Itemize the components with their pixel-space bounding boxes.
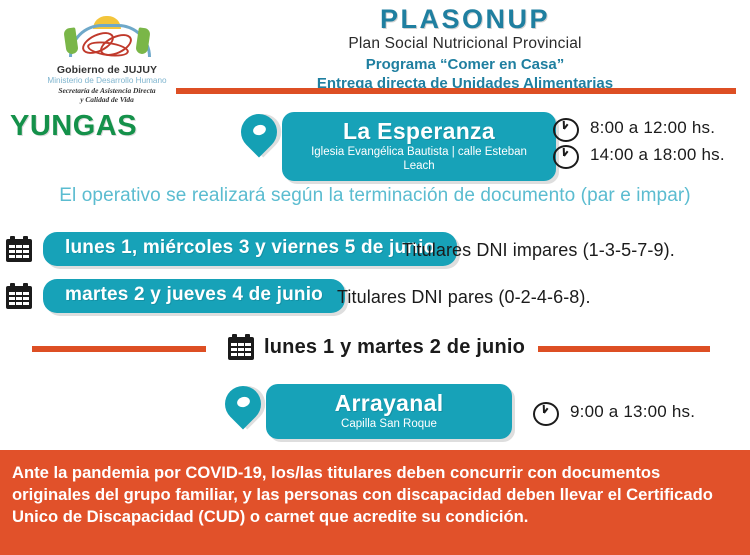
arrayanal-times: 9:00 a 13:00 hs. [533,398,695,425]
covid-notice-banner: Ante la pandemia por COVID-19, los/las t… [0,450,750,555]
arrayanal-row: Arrayanal Capilla San Roque [222,384,512,439]
schedule-row-1: lunes 1, miércoles 3 y viernes 5 de juni… [6,232,457,266]
calendar-icon [6,236,32,262]
covid-notice-text: Ante la pandemia por COVID-19, los/las t… [0,450,750,528]
header-divider [176,88,736,94]
clock-icon [533,400,557,424]
time-row: 8:00 a 12:00 hs. [553,114,725,141]
location-pin-icon [222,384,266,436]
logo-line-3: Secretaría de Asistencia Directa [42,86,172,95]
divider-right [538,346,710,352]
schedule-row-2: martes 2 y jueves 4 de junio [6,279,345,313]
brand-title: PLASONUP [200,4,730,34]
calendar-icon [6,283,32,309]
clock-icon [553,116,577,140]
flyer-page: Gobierno de JUJUY Ministerio de Desarrol… [0,0,750,555]
logo-emblem-icon [55,16,159,62]
esperanza-time-1: 8:00 a 12:00 hs. [590,118,715,138]
handshake-icon [81,30,133,54]
mid-divider-section: lunes 1 y martes 2 de junio [0,334,750,366]
header: Gobierno de JUJUY Ministerio de Desarrol… [0,0,750,92]
esperanza-row: La Esperanza Iglesia Evangélica Bautista… [238,112,556,181]
location-pin-icon [238,112,282,164]
government-logo: Gobierno de JUJUY Ministerio de Desarrol… [42,16,172,104]
arrayanal-subtitle: Capilla San Roque [282,417,496,431]
schedule-dni-2: Titulares DNI pares (0-2-4-6-8). [337,287,591,308]
brand-subtitle: Plan Social Nutricional Provincial [200,34,730,53]
logo-line-2: Ministerio de Desarrollo Humano [42,76,172,86]
clock-icon [553,143,577,167]
calendar-icon [228,334,254,360]
esperanza-title: La Esperanza [298,118,540,145]
header-titles: PLASONUP Plan Social Nutricional Provinc… [200,4,730,93]
arrayanal-card: Arrayanal Capilla San Roque [266,384,512,439]
logo-line-1: Gobierno de JUJUY [42,64,172,76]
program-line-1: Programa “Comer en Casa” [200,55,730,74]
divider-left [32,346,206,352]
arrayanal-title: Arrayanal [282,390,496,417]
mid-divider-dates: lunes 1 y martes 2 de junio [264,336,525,359]
region-label: YUNGAS [10,110,137,143]
esperanza-time-2: 14:00 a 18:00 hs. [590,145,725,165]
schedule-dni-1: Titulares DNI impares (1-3-5-7-9). [402,240,675,261]
arrayanal-time-1: 9:00 a 13:00 hs. [570,402,695,422]
mid-divider-content: lunes 1 y martes 2 de junio [228,334,525,360]
time-row: 14:00 a 18:00 hs. [553,141,725,168]
esperanza-subtitle: Iglesia Evangélica Bautista | calle Este… [298,145,540,173]
operativo-note: El operativo se realizará según la termi… [0,185,750,207]
leaf-left-icon [63,27,79,54]
schedule-dates-2: martes 2 y jueves 4 de junio [43,279,345,313]
logo-line-4: y Calidad de Vida [42,95,172,104]
esperanza-card: La Esperanza Iglesia Evangélica Bautista… [282,112,556,181]
schedule-dates-1: lunes 1, miércoles 3 y viernes 5 de juni… [43,232,457,266]
esperanza-times: 8:00 a 12:00 hs. 14:00 a 18:00 hs. [553,114,725,168]
time-row: 9:00 a 13:00 hs. [533,398,695,425]
